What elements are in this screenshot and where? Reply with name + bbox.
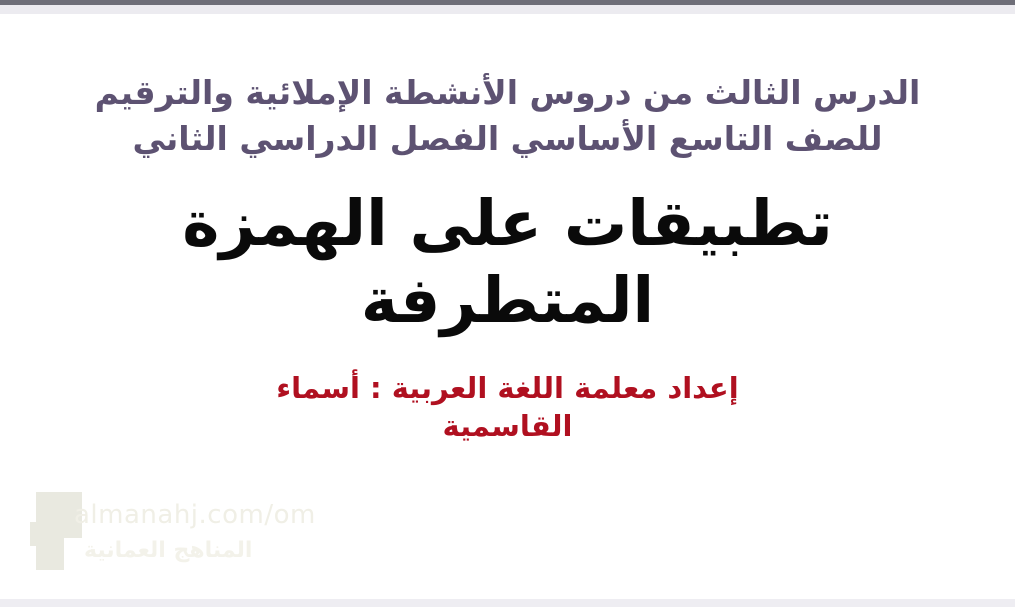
top-light-band: [0, 5, 1015, 14]
bottom-light-band: [0, 599, 1015, 607]
page-title-line-1: تطبيقات على الهمزة: [60, 186, 955, 263]
page-title-line-2: المتطرفة: [60, 263, 955, 340]
author-credit: إعداد معلمة اللغة العربية : أسماء القاسم…: [0, 370, 1015, 445]
subject-header-line-2: للصف التاسع الأساسي الفصل الدراسي الثاني: [40, 118, 975, 160]
page-title: تطبيقات على الهمزة المتطرفة: [0, 186, 1015, 340]
slide-canvas: الدرس الثالث من دروس الأنشطة الإملائية و…: [0, 0, 1015, 607]
subject-header-line-1: الدرس الثالث من دروس الأنشطة الإملائية و…: [40, 72, 975, 114]
author-credit-line-1: إعداد معلمة اللغة العربية : أسماء: [60, 370, 955, 408]
subject-header: الدرس الثالث من دروس الأنشطة الإملائية و…: [0, 72, 1015, 160]
author-credit-line-2: القاسمية: [60, 408, 955, 446]
slide-content: الدرس الثالث من دروس الأنشطة الإملائية و…: [0, 14, 1015, 599]
